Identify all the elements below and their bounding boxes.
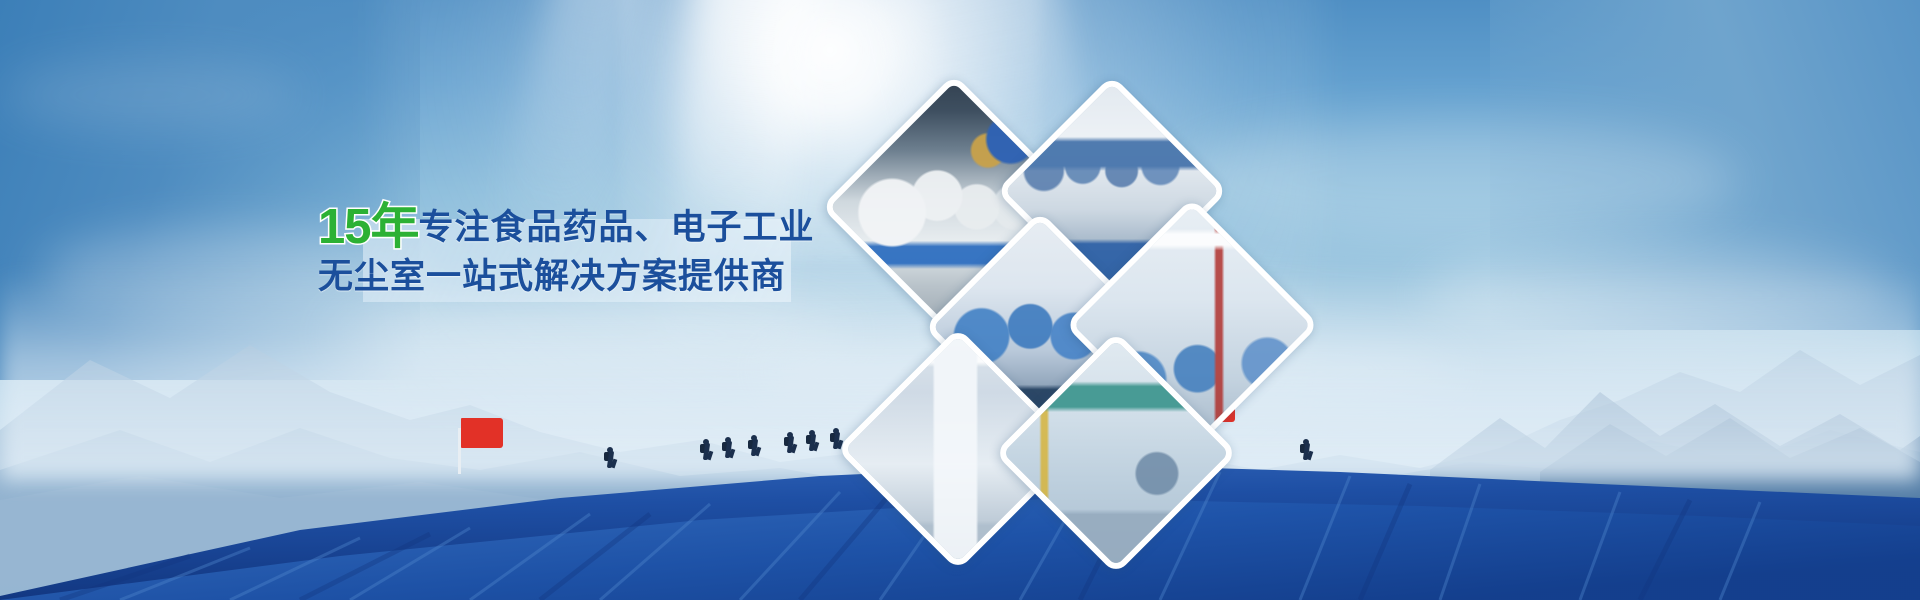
years-badge: 15年 — [318, 200, 419, 254]
hero-banner: 15年专注食品药品、电子工业 无尘室一站式解决方案提供商 — [0, 0, 1920, 600]
headline-line-1-text: 专注食品药品、电子工业 — [419, 208, 815, 247]
headline-line-1: 15年专注食品药品、电子工业 — [318, 200, 838, 255]
cleanroom-project-photo-collage — [840, 95, 1280, 475]
headline-line-2: 无尘室一站式解决方案提供商 — [318, 257, 838, 296]
flag-cloth — [461, 418, 503, 448]
headline-block: 15年专注食品药品、电子工业 无尘室一站式解决方案提供商 — [318, 200, 838, 296]
